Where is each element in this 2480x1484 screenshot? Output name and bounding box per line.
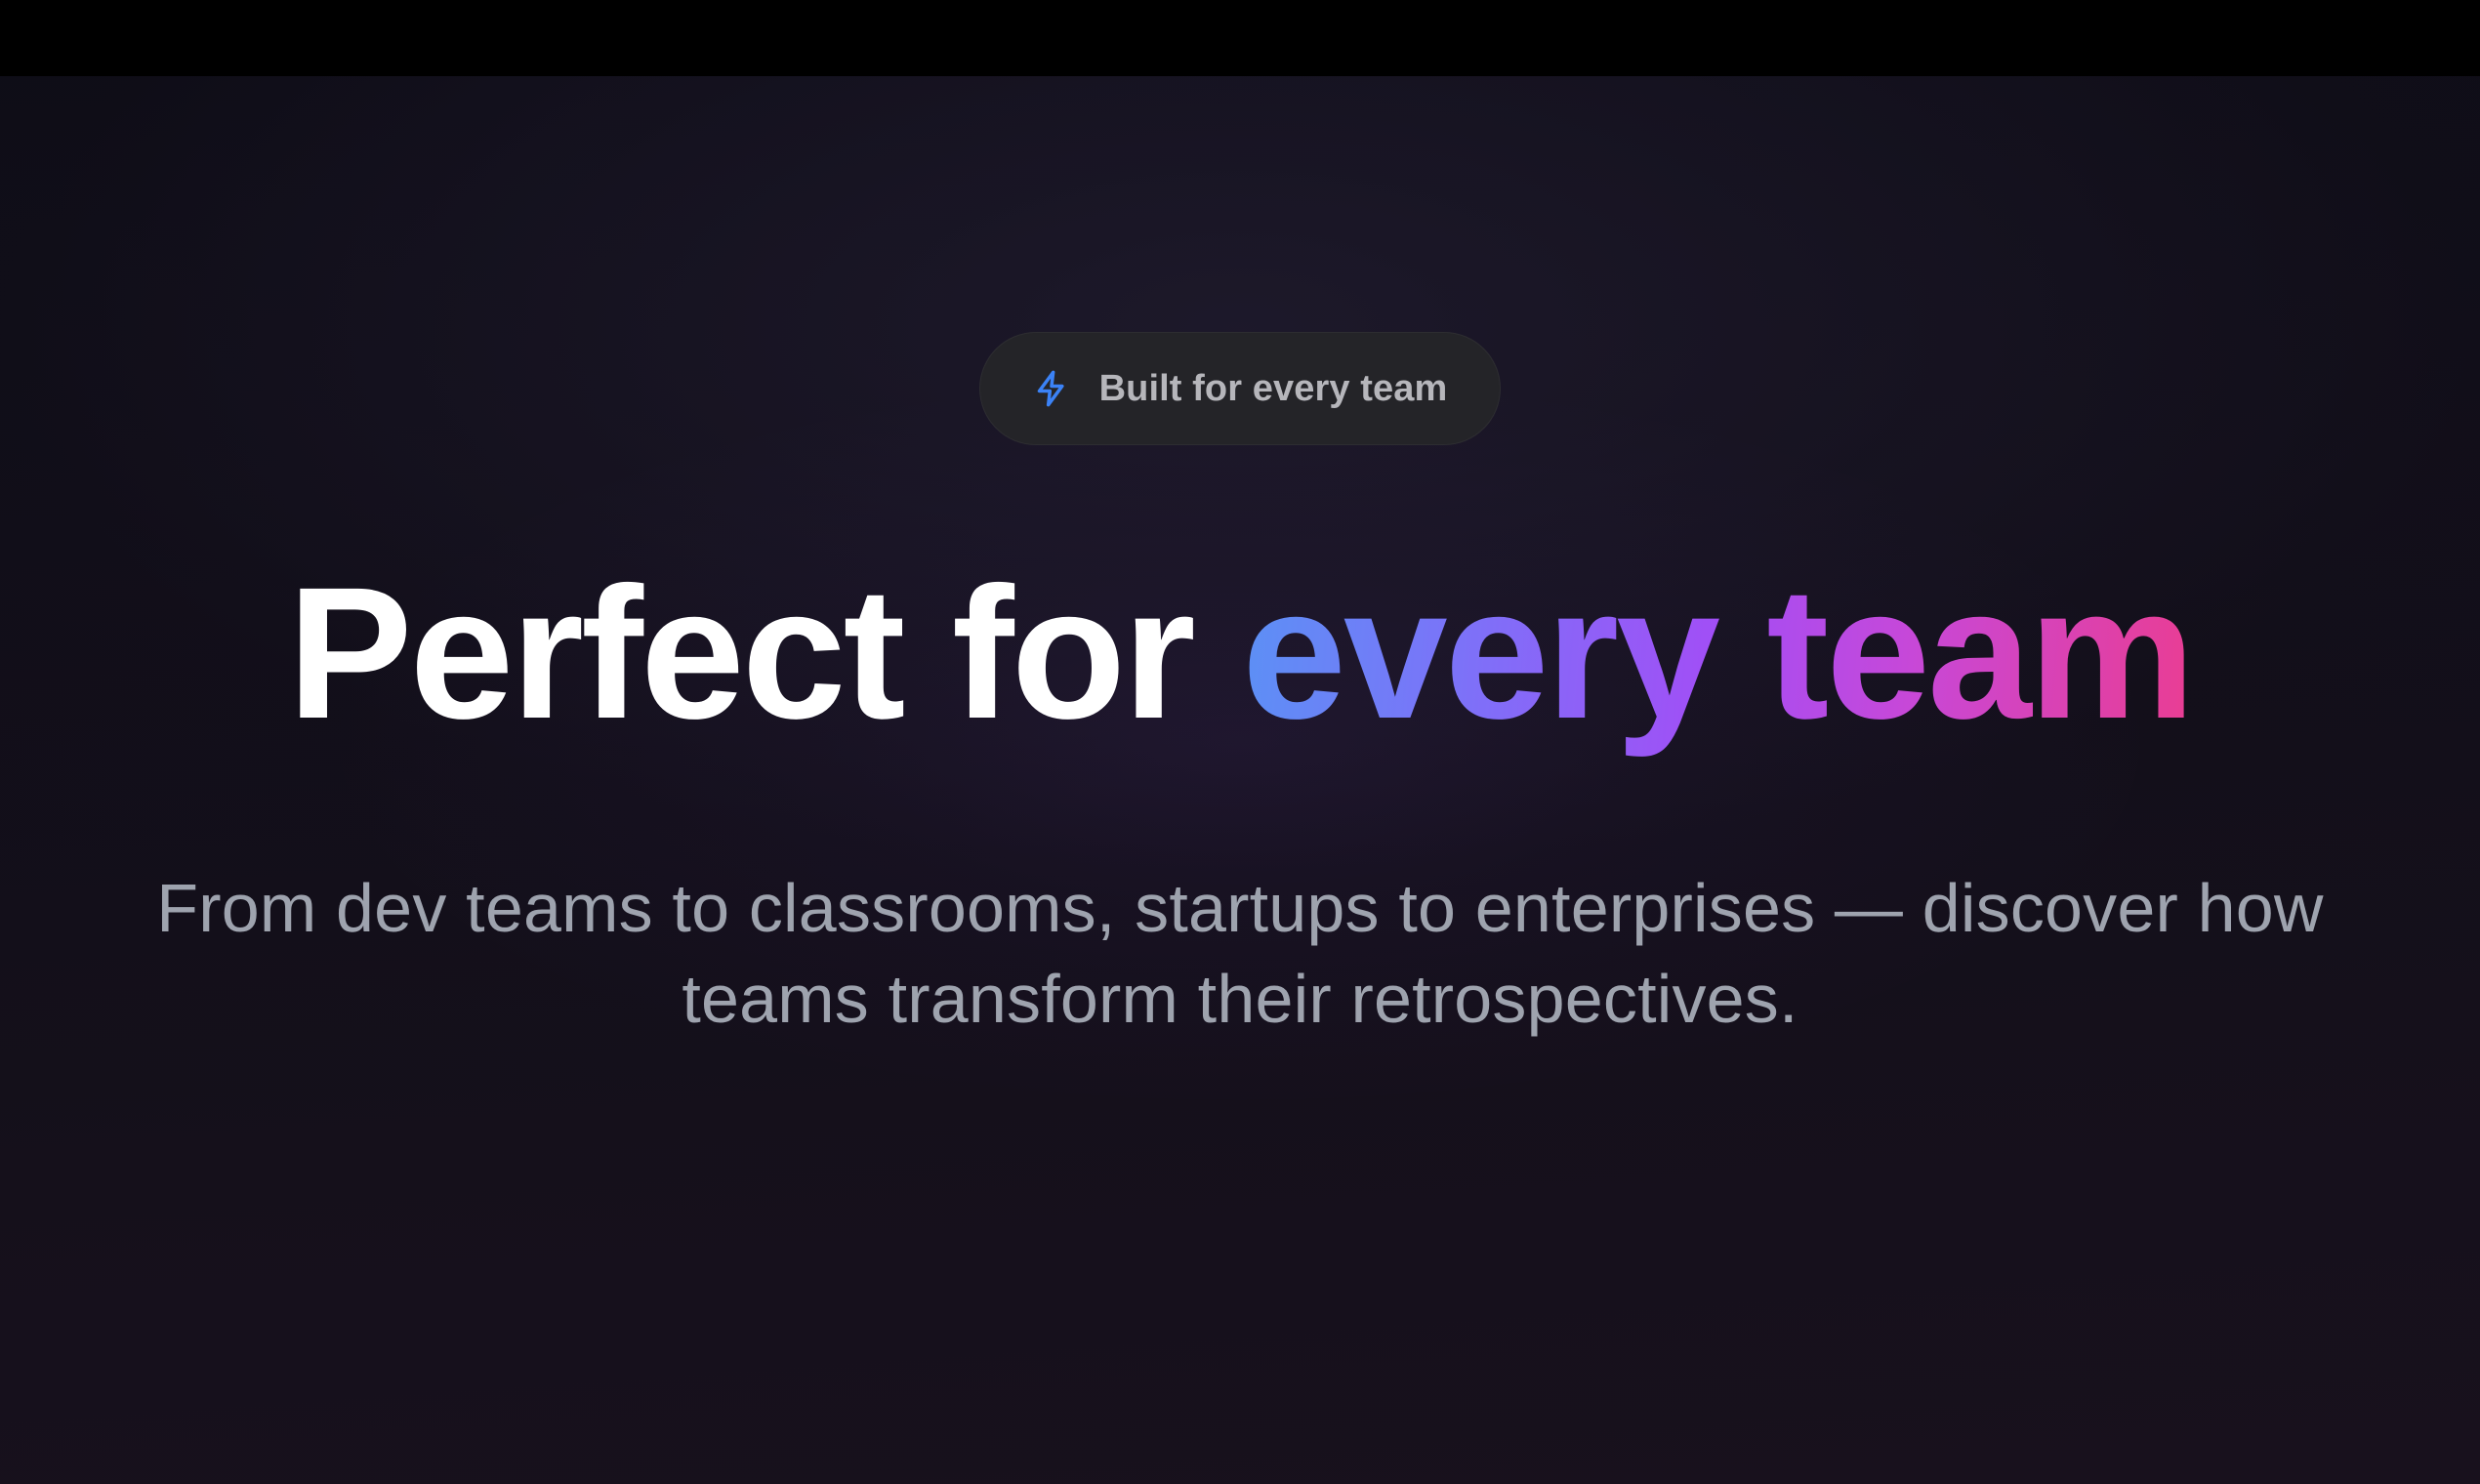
headline-plain-text: Perfect for <box>287 548 1242 758</box>
badge-container: Built for every team <box>0 332 2480 445</box>
badge-label: Built for every team <box>1099 370 1448 407</box>
headline-gradient-text: every team <box>1242 548 2192 758</box>
hero-section: Built for every team Perfect for every t… <box>0 76 2480 1484</box>
built-for-every-team-badge[interactable]: Built for every team <box>979 332 1502 445</box>
top-black-bar <box>0 0 2480 76</box>
lightning-bolt-icon <box>1029 366 1074 411</box>
page-title: Perfect for every team <box>0 552 2480 754</box>
page-subtitle: From dev teams to classrooms, startups t… <box>59 863 2421 1045</box>
